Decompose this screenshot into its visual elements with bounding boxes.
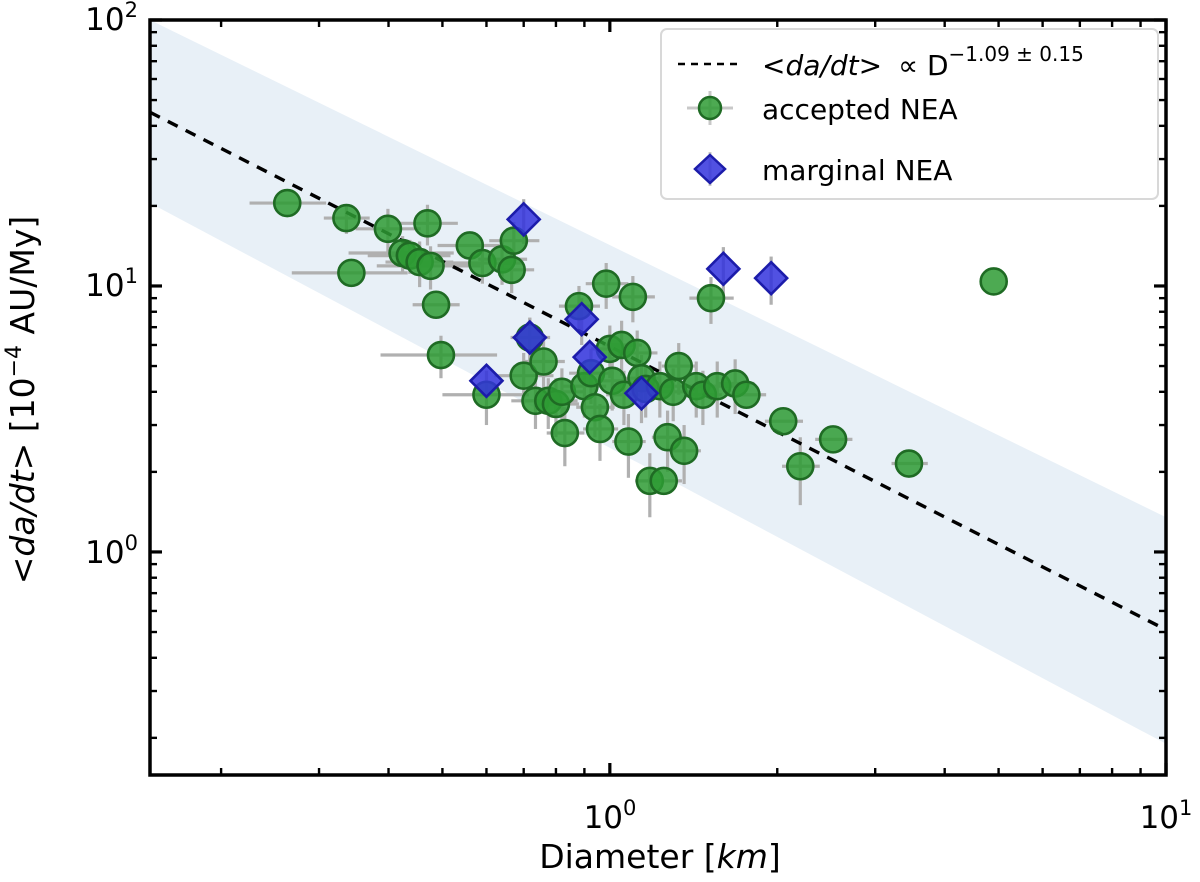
data-point-accepted — [671, 438, 697, 464]
data-point-accepted — [660, 379, 686, 405]
data-point-accepted — [624, 340, 650, 366]
data-point-accepted — [375, 216, 401, 242]
x-tick-label-1: 100 — [584, 796, 637, 836]
x-axis-title: Diameter [km] — [539, 837, 781, 876]
data-point-accepted — [787, 453, 813, 479]
scatter-plot: 100 101 102 101 100 Diameter [km] <da/dt… — [0, 0, 1200, 882]
data-point-accepted — [499, 257, 525, 283]
data-point-accepted — [651, 468, 677, 494]
data-point-accepted — [274, 190, 300, 216]
data-point-accepted — [333, 205, 359, 231]
legend: <da/dt>∝ D−1.09 ± 0.15 accepted NEA marg… — [661, 29, 1158, 199]
data-point-accepted — [418, 253, 444, 279]
data-point-accepted — [531, 349, 557, 375]
data-point-accepted — [770, 408, 796, 434]
data-point-accepted — [587, 416, 613, 442]
data-point-accepted — [698, 285, 724, 311]
data-point-accepted — [552, 420, 578, 446]
data-point-accepted — [428, 342, 454, 368]
y-tick-label-100: 102 — [85, 0, 138, 38]
legend-marginal-label: marginal NEA — [762, 154, 952, 187]
data-point-accepted — [593, 271, 619, 297]
legend-accepted-label: accepted NEA — [762, 93, 958, 126]
figure-container: 100 101 102 101 100 Diameter [km] <da/dt… — [0, 0, 1200, 882]
data-point-accepted — [615, 429, 641, 455]
y-tick-label-10: 101 — [85, 264, 138, 304]
data-point-accepted — [414, 210, 440, 236]
data-point-accepted — [338, 260, 364, 286]
data-point-accepted — [896, 451, 922, 477]
data-point-accepted — [423, 292, 449, 318]
data-point-accepted — [820, 426, 846, 452]
data-point-accepted — [620, 284, 646, 310]
data-point-accepted — [981, 268, 1007, 294]
y-axis-title: <da/dt> [10−4 AU/My] — [2, 216, 42, 585]
x-tick-label-2: 101 — [1140, 796, 1193, 836]
y-tick-label-1: 100 — [85, 531, 138, 571]
data-point-accepted — [733, 382, 759, 408]
